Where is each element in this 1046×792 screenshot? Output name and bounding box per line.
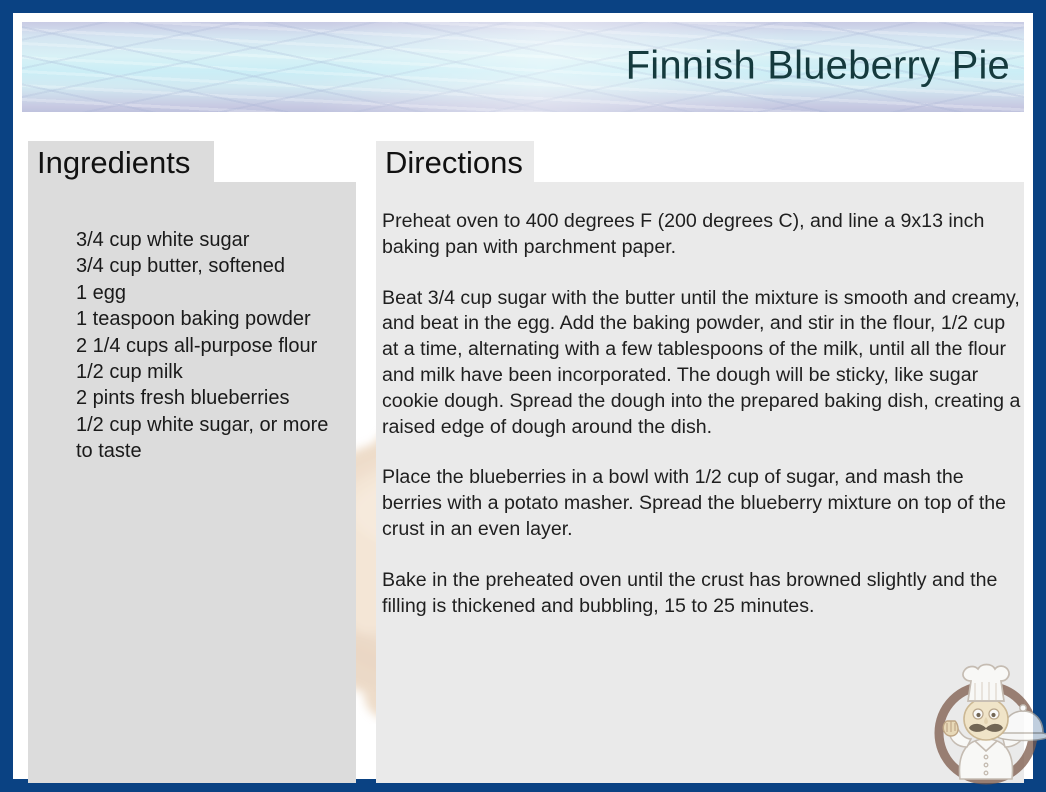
direction-step: Beat 3/4 cup sugar with the butter until… (382, 286, 1022, 441)
list-item: 1/2 cup milk (76, 359, 350, 385)
directions-heading: Directions (376, 141, 534, 182)
direction-step: Preheat oven to 400 degrees F (200 degre… (382, 209, 1022, 261)
recipe-card-frame: Finnish Blueberry Pie (0, 0, 1046, 792)
page-title: Finnish Blueberry Pie (626, 44, 1010, 89)
list-item: 1 teaspoon baking powder (76, 306, 350, 332)
chef-with-cloche-logo (923, 661, 1046, 791)
list-item: 1 egg (76, 280, 350, 306)
direction-step: Place the blueberries in a bowl with 1/2… (382, 465, 1022, 542)
list-item: 2 pints fresh blueberries (76, 385, 350, 411)
directions-text: Preheat oven to 400 degrees F (200 degre… (382, 209, 1022, 619)
recipe-page: Finnish Blueberry Pie (13, 13, 1033, 779)
list-item: 3/4 cup butter, softened (76, 253, 350, 279)
direction-step: Bake in the preheated oven until the cru… (382, 568, 1022, 620)
ingredients-heading: Ingredients (28, 141, 214, 182)
ingredients-list: 3/4 cup white sugar 3/4 cup butter, soft… (36, 227, 350, 465)
header-banner: Finnish Blueberry Pie (22, 22, 1024, 112)
list-item: 1/2 cup white sugar, or more to taste (76, 412, 350, 465)
list-item: 2 1/4 cups all-purpose flour (76, 333, 350, 359)
ingredients-panel: 3/4 cup white sugar 3/4 cup butter, soft… (28, 182, 356, 783)
list-item: 3/4 cup white sugar (76, 227, 350, 253)
